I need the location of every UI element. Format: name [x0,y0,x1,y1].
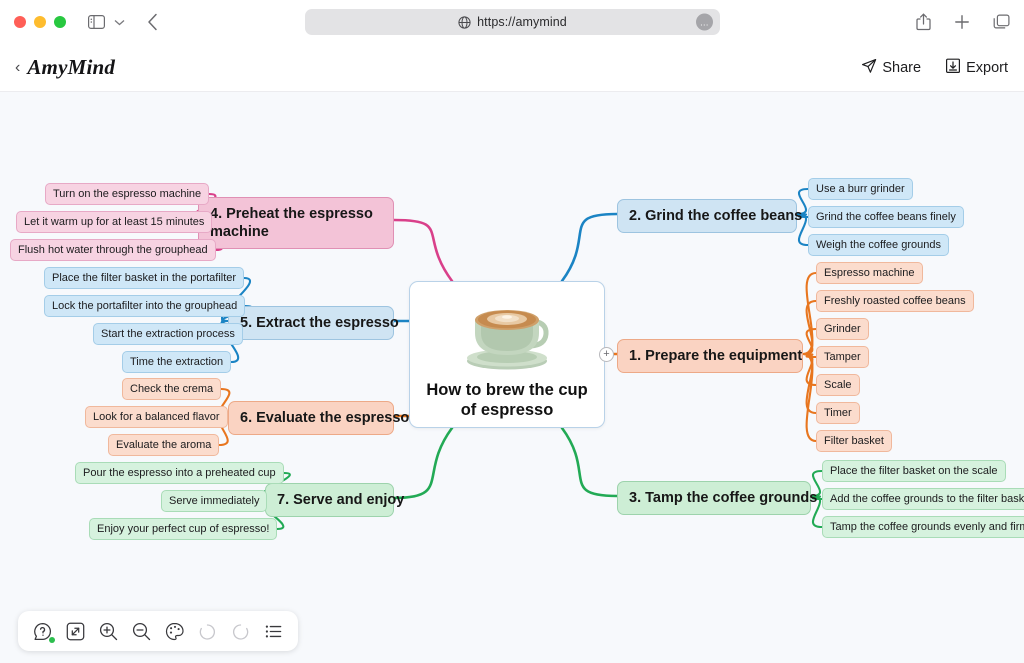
subtopic-prepare-6[interactable]: Timer [816,402,860,424]
main-topic-preheat[interactable]: 4. Preheat the espresso machine [198,197,394,249]
main-topic-serve[interactable]: 7. Serve and enjoy [265,483,394,517]
subtopic-evaluate-3[interactable]: Evaluate the aroma [108,434,219,456]
browser-toolbar: https://amymind … [0,0,1024,44]
zoom-out-icon[interactable] [131,621,152,642]
help-status-badge [49,637,55,643]
main-topic-prepare[interactable]: 1. Prepare the equipment [617,339,803,373]
zoom-in-icon[interactable] [98,621,119,642]
subtopic-grind-3[interactable]: Weigh the coffee grounds [808,234,949,256]
subtopic-prepare-7[interactable]: Filter basket [816,430,892,452]
subtopic-prepare-4[interactable]: Tamper [816,346,869,368]
globe-icon [458,16,471,29]
mindmap-canvas[interactable]: How to brew the cup of espresso 4. Prehe… [0,92,1024,663]
subtopic-evaluate-1[interactable]: Check the crema [122,378,221,400]
subtopic-grind-1[interactable]: Use a burr grinder [808,178,913,200]
header-actions: Share Export [861,58,1008,78]
subtopic-extract-4[interactable]: Time the extraction [122,351,231,373]
maximize-window-button[interactable] [54,16,66,28]
brand-area[interactable]: ‹ AmyMind [15,55,115,80]
main-topic-tamp[interactable]: 3. Tamp the coffee grounds [617,481,811,515]
subtopic-serve-1[interactable]: Pour the espresso into a preheated cup [75,462,284,484]
browser-actions [916,0,1010,44]
subtopic-prepare-5[interactable]: Scale [816,374,860,396]
subtopic-prepare-2[interactable]: Freshly roasted coffee beans [816,290,974,312]
paper-plane-icon [861,58,877,78]
app-logo-text: AmyMind [27,55,115,80]
url-text: https://amymind [477,15,567,29]
subtopic-tamp-1[interactable]: Place the filter basket on the scale [822,460,1006,482]
outline-icon[interactable] [263,621,284,642]
undo-icon [197,621,218,642]
share-icon[interactable] [916,13,931,31]
main-topic-extract[interactable]: 5. Extract the espresso [228,306,394,340]
download-box-icon [945,58,961,78]
chevron-down-icon[interactable] [114,19,125,26]
share-button[interactable]: Share [861,58,921,78]
expand-toggle-prepare[interactable]: + [599,347,614,362]
subtopic-extract-2[interactable]: Lock the portafilter into the grouphead [44,295,245,317]
close-window-button[interactable] [14,16,26,28]
subtopic-evaluate-2[interactable]: Look for a balanced flavor [85,406,228,428]
subtopic-extract-1[interactable]: Place the filter basket in the portafilt… [44,267,244,289]
palette-icon[interactable] [164,621,185,642]
export-button[interactable]: Export [945,58,1008,78]
subtopic-tamp-3[interactable]: Tamp the coffee grounds evenly and firml… [822,516,1024,538]
main-topic-grind[interactable]: 2. Grind the coffee beans [617,199,797,233]
sidebar-toggle-icon[interactable] [88,15,105,29]
subtopic-extract-3[interactable]: Start the extraction process [93,323,243,345]
espresso-cup-image [455,291,559,378]
subtopic-grind-2[interactable]: Grind the coffee beans finely [808,206,964,228]
back-chevron-icon[interactable]: ‹ [15,59,20,77]
fullscreen-icon[interactable] [65,621,86,642]
subtopic-serve-3[interactable]: Enjoy your perfect cup of espresso! [89,518,277,540]
back-arrow-icon[interactable] [147,13,158,31]
subtopic-prepare-3[interactable]: Grinder [816,318,869,340]
address-bar[interactable]: https://amymind … [305,9,720,35]
page-settings-icon[interactable]: … [696,14,713,31]
main-topic-evaluate[interactable]: 6. Evaluate the espresso [228,401,394,435]
subtopic-preheat-2[interactable]: Let it warm up for at least 15 minutes [16,211,212,233]
subtopic-prepare-1[interactable]: Espresso machine [816,262,923,284]
central-topic-node[interactable]: How to brew the cup of espresso [409,281,605,428]
app-header: ‹ AmyMind Share Export [0,44,1024,92]
export-button-label: Export [966,60,1008,76]
minimize-window-button[interactable] [34,16,46,28]
subtopic-tamp-2[interactable]: Add the coffee grounds to the filter bas… [822,488,1024,510]
window-controls[interactable] [14,16,66,28]
subtopic-preheat-1[interactable]: Turn on the espresso machine [45,183,209,205]
central-topic-title: How to brew the cup of espresso [419,380,595,420]
tab-overview-icon[interactable] [993,14,1010,30]
subtopic-preheat-3[interactable]: Flush hot water through the grouphead [10,239,216,261]
new-tab-icon[interactable] [954,14,970,30]
help-icon[interactable] [32,621,53,642]
redo-icon [230,621,251,642]
canvas-toolbar [18,611,298,651]
share-button-label: Share [882,60,921,76]
subtopic-serve-2[interactable]: Serve immediately [161,490,267,512]
